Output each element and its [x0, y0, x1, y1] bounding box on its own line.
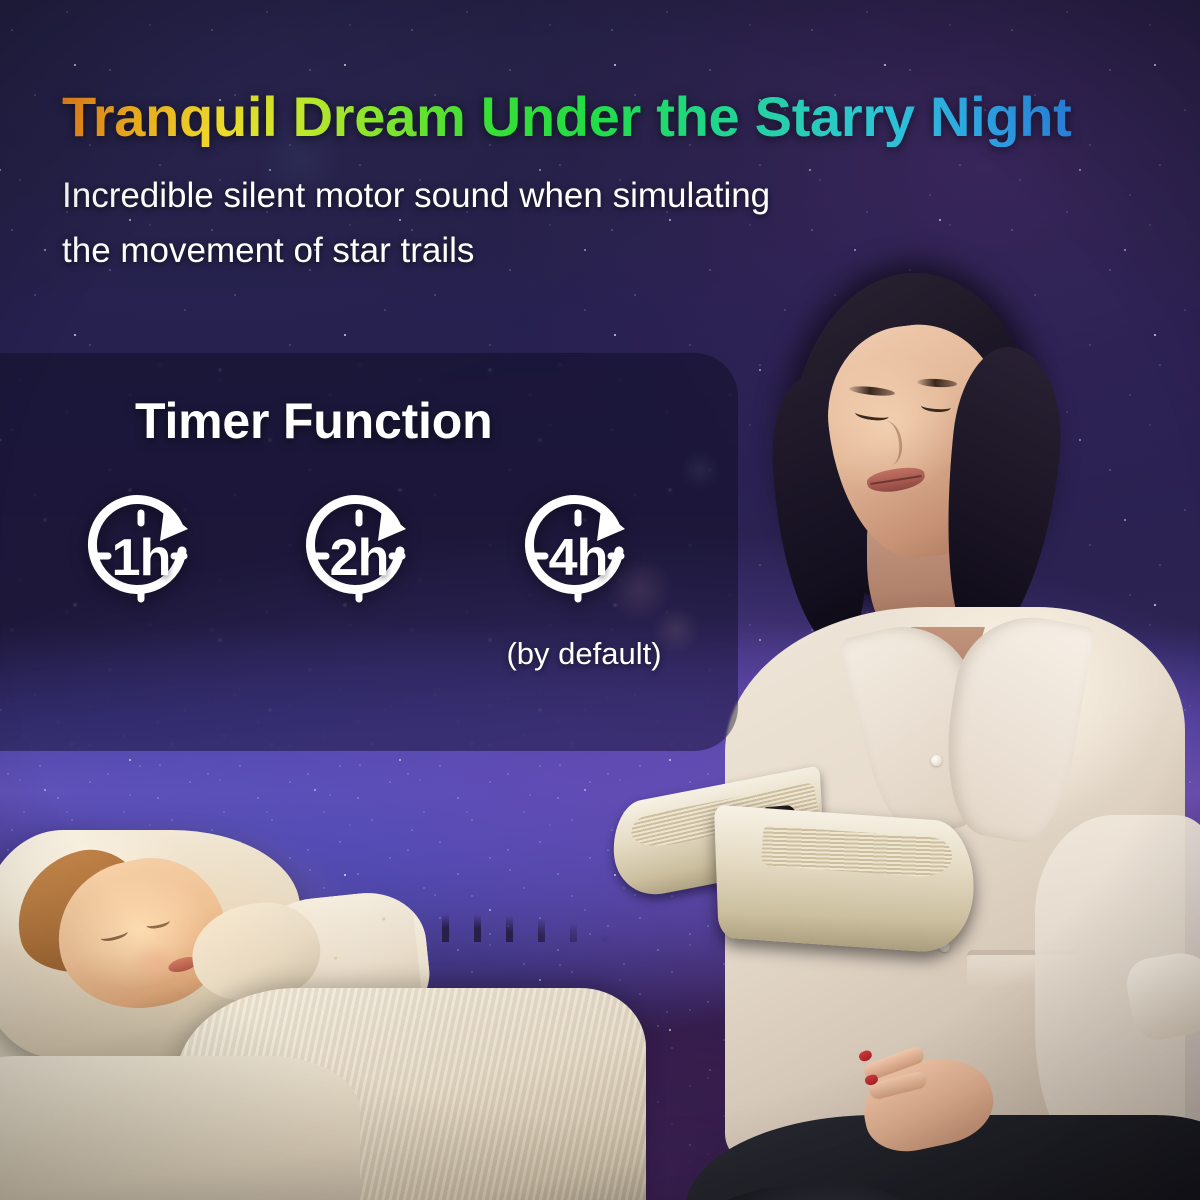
timer-option-4h[interactable]: 4h — [507, 485, 649, 627]
timer-section-title: Timer Function — [135, 392, 492, 450]
page-headline: Tranquil Dream Under the Starry Night — [62, 88, 1162, 147]
timer-option-label: 2h — [288, 485, 430, 627]
timer-options-row: 1h 2h — [70, 485, 710, 635]
book-page-right — [714, 805, 976, 956]
page-subtitle: Incredible silent motor sound when simul… — [62, 168, 1042, 279]
timer-option-label: 4h — [507, 485, 649, 627]
subtitle-line-2: the movement of star trails — [62, 223, 1042, 278]
subtitle-line-1: Incredible silent motor sound when simul… — [62, 168, 1042, 223]
blouse-button — [931, 755, 942, 766]
product-feature-poster: Tranquil Dream Under the Starry Night In… — [0, 0, 1200, 1200]
sleeping-child-photo — [0, 812, 680, 1200]
timer-option-2h[interactable]: 2h — [288, 485, 430, 627]
bed-sheet — [0, 1056, 360, 1200]
timer-option-1h[interactable]: 1h — [70, 485, 212, 627]
woman-reading-photo — [735, 255, 1200, 1200]
timer-option-label: 1h — [70, 485, 212, 627]
timer-default-note: (by default) — [489, 636, 679, 672]
